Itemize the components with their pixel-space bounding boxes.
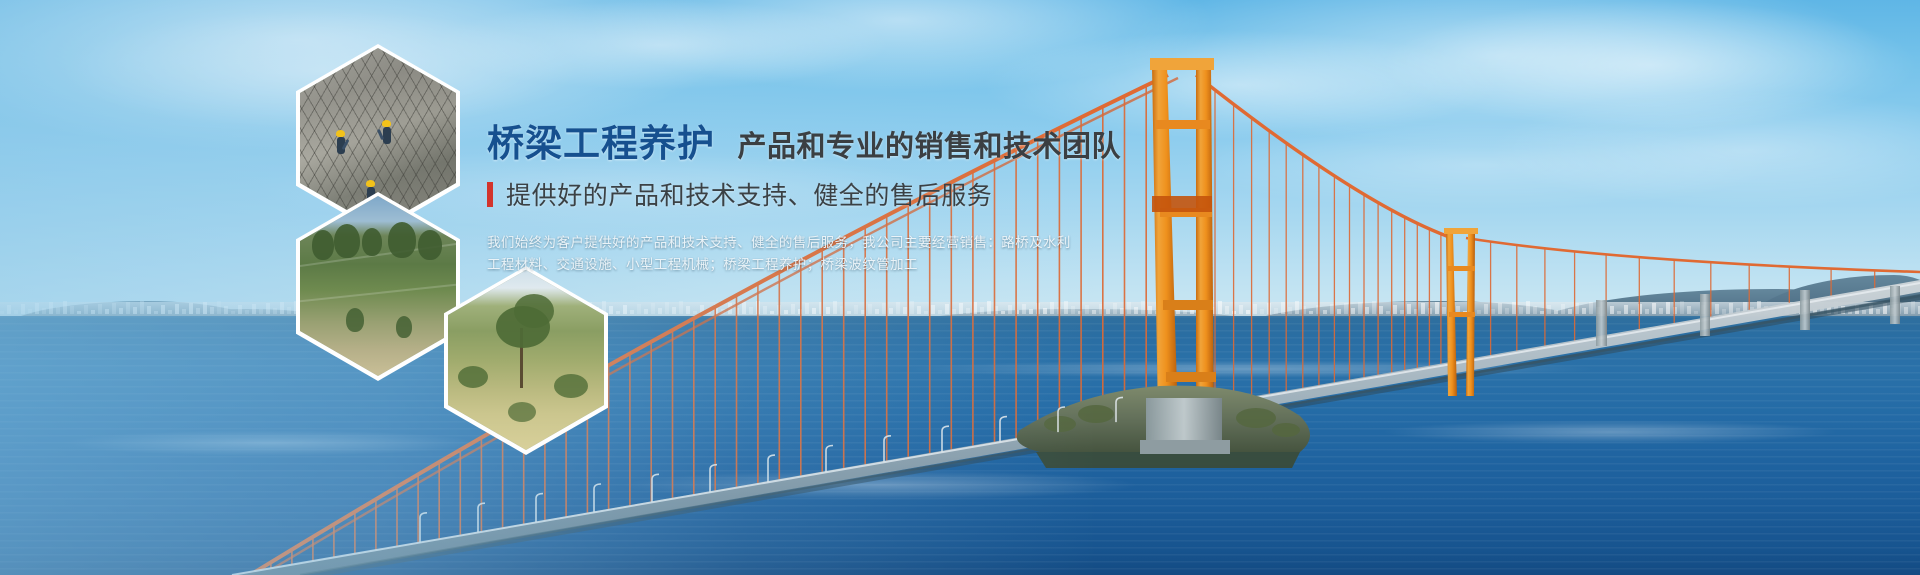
hero-banner: 桥梁工程养护 产品和专业的销售和技术团队 提供好的产品和技术支持、健全的售后服务… [0, 0, 1920, 575]
headline-primary: 桥梁工程养护 [487, 123, 715, 164]
banner-headline: 桥梁工程养护 产品和专业的销售和技术团队 [487, 125, 1187, 162]
banner-copy: 桥梁工程养护 产品和专业的销售和技术团队 提供好的产品和技术支持、健全的售后服务… [487, 125, 1187, 276]
banner-description: 我们始终为客户提供好的产品和技术支持、健全的售后服务，我公司主要经营销售：路桥及… [487, 232, 1187, 276]
banner-subtitle-row: 提供好的产品和技术支持、健全的售后服务 [487, 176, 1187, 212]
red-accent-bar [487, 182, 493, 207]
description-line-2: 工程材料、交通设施、小型工程机械；桥梁工程养护；桥梁波纹管加工 [487, 254, 1187, 276]
headline-secondary: 产品和专业的销售和技术团队 [737, 131, 1121, 163]
suspension-bridge [0, 0, 1920, 575]
banner-subtitle: 提供好的产品和技术支持、健全的售后服务 [506, 176, 992, 212]
description-line-1: 我们始终为客户提供好的产品和技术支持、健全的售后服务，我公司主要经营销售：路桥及… [487, 232, 1187, 254]
